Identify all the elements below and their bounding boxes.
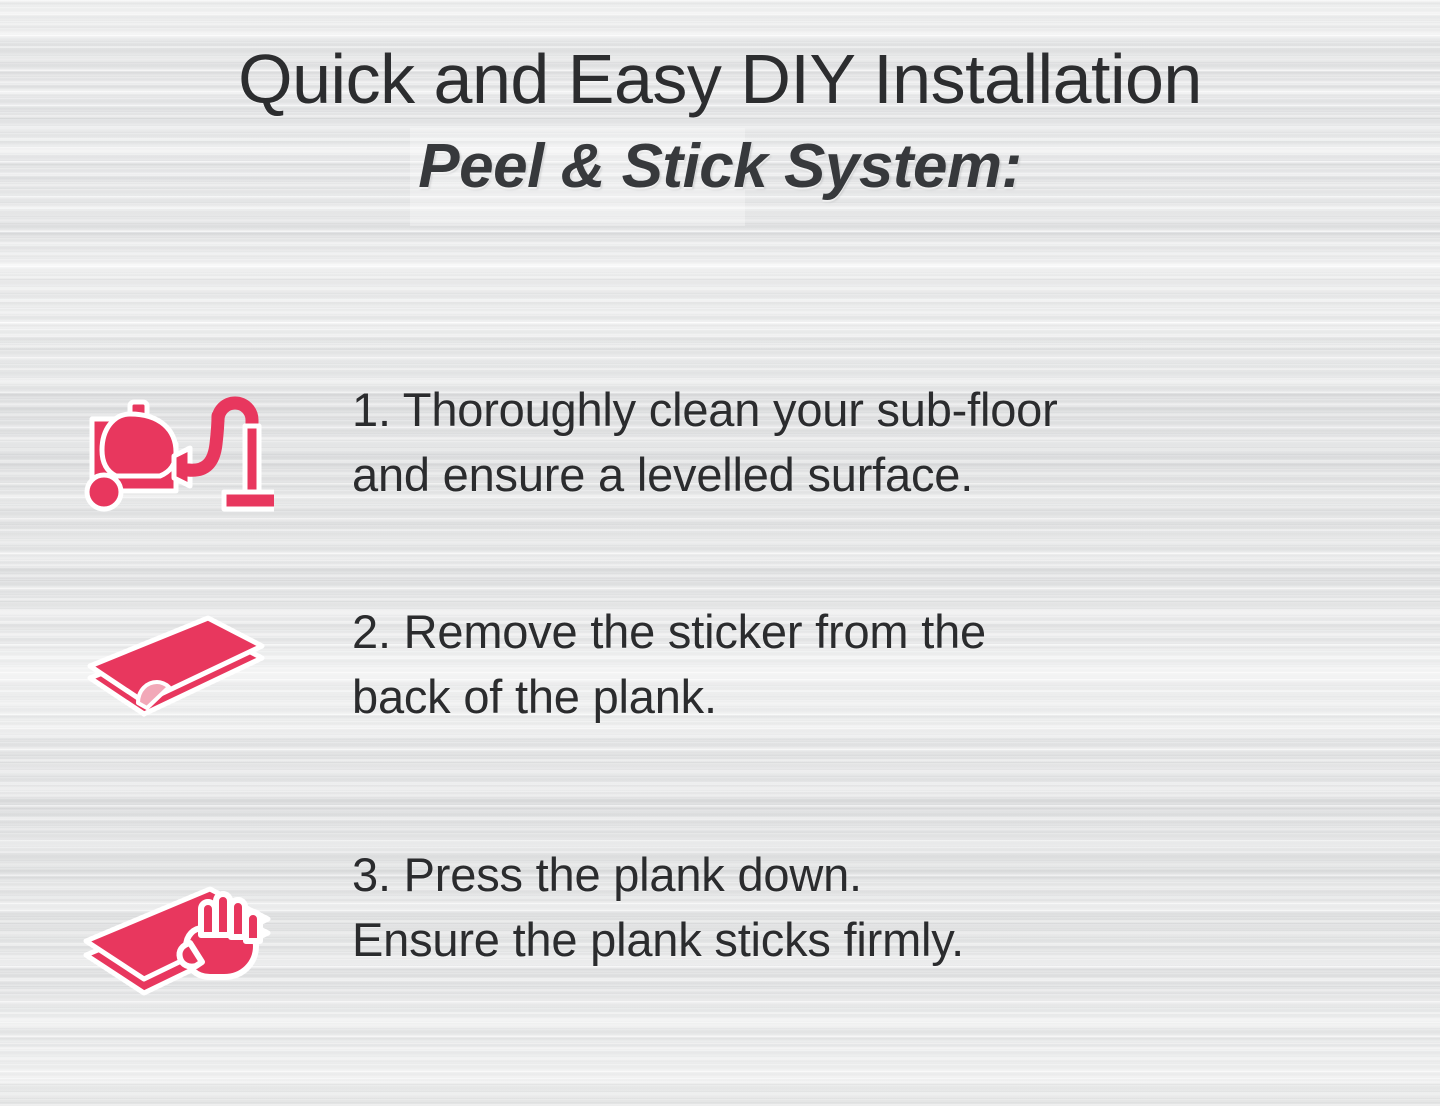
step-3-icon-cell <box>0 843 352 1003</box>
step-3-text-cell: 3. Press the plank down. Ensure the plan… <box>352 843 1440 973</box>
step-item-3: 3. Press the plank down. Ensure the plan… <box>0 843 1440 1003</box>
step-1-line-1: 1. Thoroughly clean your sub-floor <box>352 378 1290 443</box>
title-block: Quick and Easy DIY Installation Peel & S… <box>0 44 1440 199</box>
step-3-line-1: 3. Press the plank down. <box>352 843 1290 908</box>
hand-pressing-plank-icon <box>74 851 278 1003</box>
step-2-text-cell: 2. Remove the sticker from the back of t… <box>352 600 1440 730</box>
step-1-text-cell: 1. Thoroughly clean your sub-floor and e… <box>352 378 1440 508</box>
page-title: Quick and Easy DIY Installation <box>0 44 1440 115</box>
installation-instructions-poster: Quick and Easy DIY Installation Peel & S… <box>0 0 1440 1106</box>
step-1-line-2: and ensure a levelled surface. <box>352 443 1290 508</box>
step-item-1: 1. Thoroughly clean your sub-floor and e… <box>0 378 1440 516</box>
step-2-line-2: back of the plank. <box>352 665 1290 730</box>
step-item-2: 2. Remove the sticker from the back of t… <box>0 600 1440 732</box>
step-3-line-2: Ensure the plank sticks firmly. <box>352 908 1290 973</box>
step-2-line-1: 2. Remove the sticker from the <box>352 600 1290 665</box>
vacuum-cleaner-icon <box>78 386 274 516</box>
step-1-icon-cell <box>0 378 352 516</box>
step-2-icon-cell <box>0 600 352 732</box>
page-subtitle: Peel & Stick System: <box>0 135 1440 198</box>
plank-peel-sticker-icon <box>78 608 274 732</box>
